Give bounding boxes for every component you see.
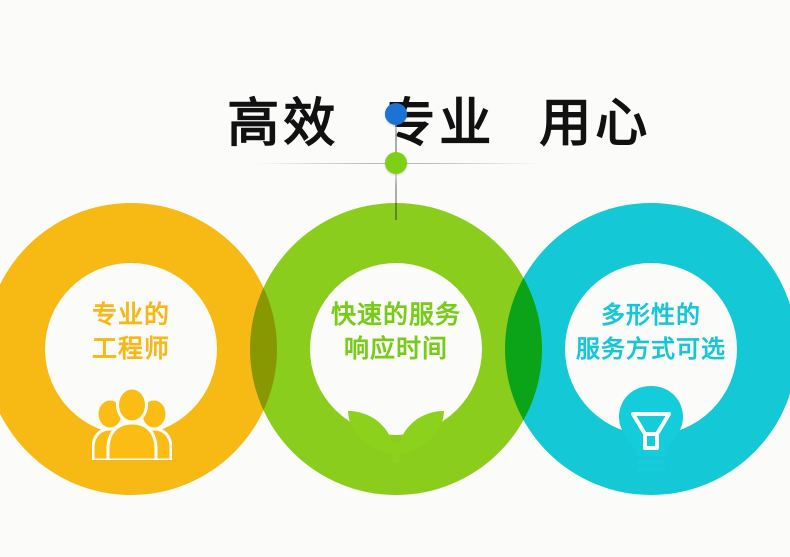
infographic-canvas: 高效专业用心 [0, 0, 790, 557]
ring-cyan [0, 0, 790, 557]
venn-rings-group [0, 0, 790, 557]
